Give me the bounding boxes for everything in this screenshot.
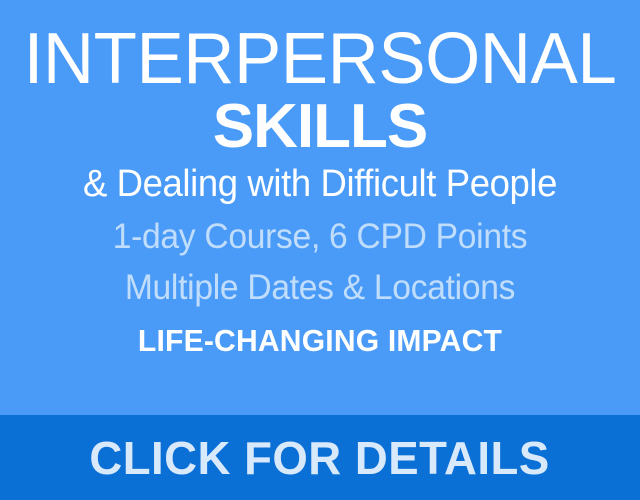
headline-secondary: SKILLS	[0, 96, 640, 158]
banner-tagline: LIFE-CHANGING IMPACT	[10, 324, 631, 358]
course-detail-dates: Multiple Dates & Locations	[13, 262, 627, 313]
headline-primary: INTERPERSONAL	[5, 24, 635, 94]
cta-bar[interactable]: CLICK FOR DETAILS	[0, 415, 640, 500]
cta-label: CLICK FOR DETAILS	[90, 435, 550, 481]
banner-message-area: INTERPERSONAL SKILLS & Dealing with Diff…	[0, 0, 640, 415]
course-detail-duration: 1-day Course, 6 CPD Points	[13, 211, 627, 262]
banner-subhead: & Dealing with Difficult People	[13, 162, 627, 206]
advertisement-banner[interactable]: INTERPERSONAL SKILLS & Dealing with Diff…	[0, 0, 640, 500]
